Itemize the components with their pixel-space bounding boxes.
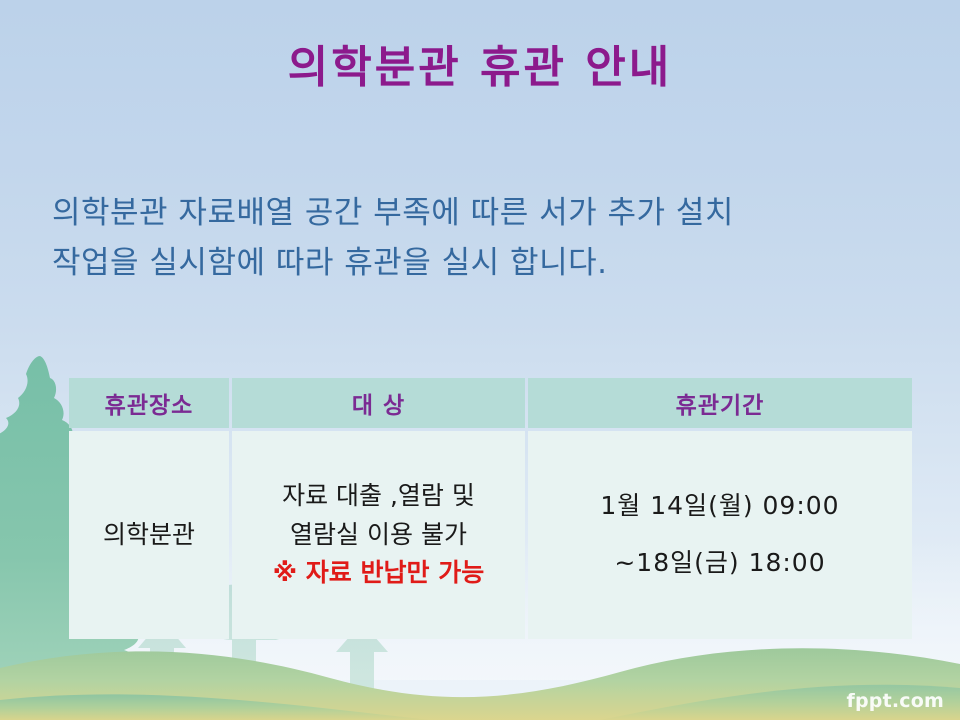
- target-line-1: 자료 대출 ,열람 및: [232, 477, 525, 516]
- period-line-start: 1월 14일(월) 09:00: [528, 487, 912, 526]
- target-line-note: ※ 자료 반납만 가능: [232, 554, 525, 593]
- period-line-end: ~18일(금) 18:00: [528, 544, 912, 583]
- closure-table: 휴관장소 대 상 휴관기간 의학분관 자료 대출 ,열람 및 열람실 이용 불가…: [66, 375, 915, 642]
- cell-place: 의학분관: [69, 431, 229, 639]
- period-line-spacer: [528, 526, 912, 544]
- notice-body: 의학분관 자료배열 공간 부족에 따른 서가 추가 설치 작업을 실시함에 따라…: [52, 188, 918, 288]
- slide-canvas: 의학분관 휴관 안내 의학분관 자료배열 공간 부족에 따른 서가 추가 설치 …: [0, 0, 960, 720]
- cell-target: 자료 대출 ,열람 및 열람실 이용 불가 ※ 자료 반납만 가능: [232, 431, 525, 639]
- table-row: 의학분관 자료 대출 ,열람 및 열람실 이용 불가 ※ 자료 반납만 가능 1…: [69, 431, 912, 639]
- column-header-target: 대 상: [232, 378, 525, 428]
- fppt-watermark: fppt.com: [847, 690, 944, 712]
- page-title: 의학분관 휴관 안내: [0, 40, 960, 95]
- cell-period: 1월 14일(월) 09:00 ~18일(금) 18:00: [528, 431, 912, 639]
- hill-front: [0, 694, 430, 720]
- target-lines: 자료 대출 ,열람 및 열람실 이용 불가 ※ 자료 반납만 가능: [232, 477, 525, 593]
- period-lines: 1월 14일(월) 09:00 ~18일(금) 18:00: [528, 487, 912, 583]
- target-line-2: 열람실 이용 불가: [232, 516, 525, 555]
- column-header-period: 휴관기간: [528, 378, 912, 428]
- column-header-place: 휴관장소: [69, 378, 229, 428]
- table-header-row: 휴관장소 대 상 휴관기간: [69, 378, 912, 428]
- hill-back: [0, 648, 960, 720]
- notice-body-line-1: 의학분관 자료배열 공간 부족에 따른 서가 추가 설치: [52, 188, 918, 238]
- notice-body-line-2: 작업을 실시함에 따라 휴관을 실시 합니다.: [52, 238, 918, 288]
